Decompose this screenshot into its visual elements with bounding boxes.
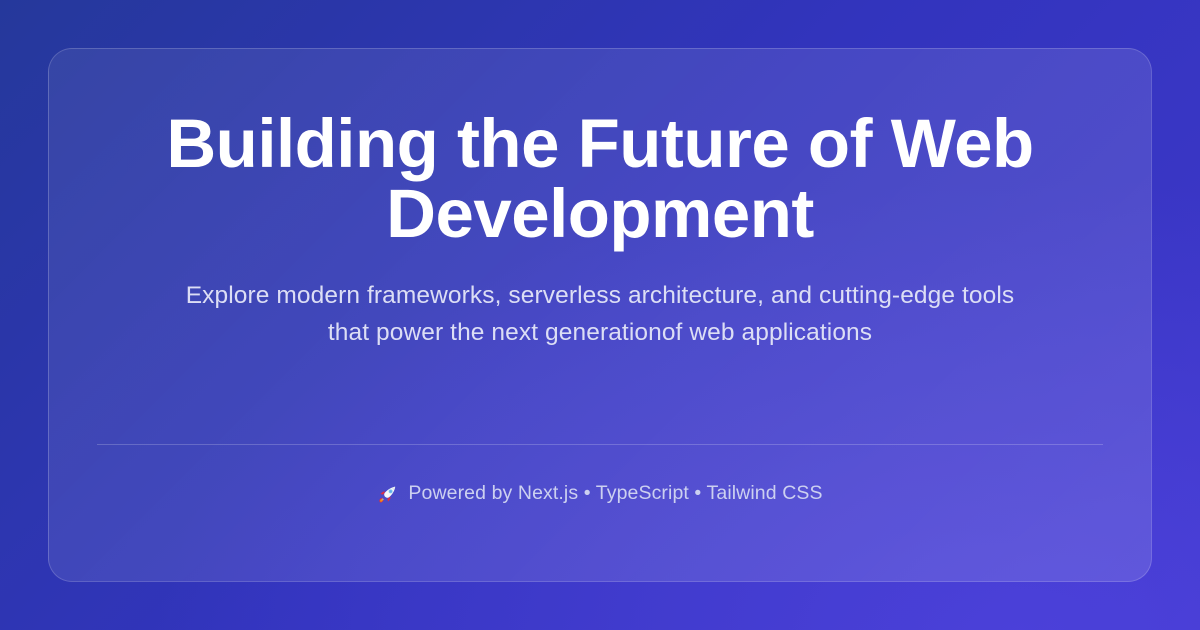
rocket-icon (377, 483, 399, 505)
hero-section: Building the Future of Web Development E… (97, 95, 1103, 444)
page-title: Building the Future of Web Development (165, 109, 1035, 249)
og-card: Building the Future of Web Development E… (48, 48, 1152, 582)
page-subtitle: Explore modern frameworks, serverless ar… (165, 277, 1035, 351)
footer-section: Powered by Next.js • TypeScript • Tailwi… (97, 444, 1103, 541)
footer-credits: Powered by Next.js • TypeScript • Tailwi… (97, 445, 1103, 541)
footer-text: Powered by Next.js • TypeScript • Tailwi… (408, 482, 822, 505)
